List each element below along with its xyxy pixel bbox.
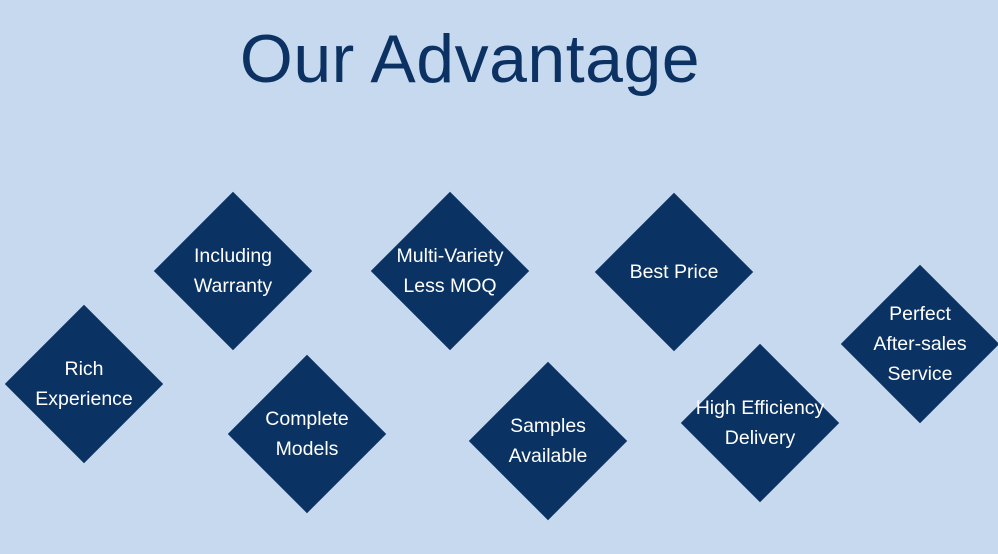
diamond-label-line: Best Price [630,257,719,287]
diamond-label: PerfectAfter-salesService [873,299,966,389]
advantage-diamond-group: RichExperienceIncludingWarrantyCompleteM… [0,0,998,554]
diamond-label-line: Less MOQ [397,271,504,301]
diamond-label-line: Samples [509,411,588,441]
advantage-diamond-complete-models[interactable]: CompleteModels [251,378,363,490]
diamond-label-line: Perfect [873,299,966,329]
slide-canvas: Our Advantage RichExperienceIncludingWar… [0,0,998,554]
advantage-diamond-rich-experience[interactable]: RichExperience [28,328,140,440]
diamond-label-line: Experience [35,384,133,414]
diamond-label: IncludingWarranty [194,241,272,301]
diamond-label-line: Including [194,241,272,271]
advantage-diamond-samples-available[interactable]: SamplesAvailable [492,385,604,497]
diamond-label-line: Available [509,441,588,471]
diamond-label: Best Price [630,257,719,287]
diamond-label: SamplesAvailable [509,411,588,471]
advantage-diamond-multi-variety-less-moq[interactable]: Multi-VarietyLess MOQ [394,215,506,327]
diamond-label-line: High Efficiency [696,393,825,423]
diamond-label-line: Delivery [696,423,825,453]
diamond-label: CompleteModels [265,404,348,464]
advantage-diamond-including-warranty[interactable]: IncludingWarranty [177,215,289,327]
diamond-label-line: Multi-Variety [397,241,504,271]
advantage-diamond-perfect-after-sales-service[interactable]: PerfectAfter-salesService [864,288,976,400]
advantage-diamond-best-price[interactable]: Best Price [618,216,730,328]
diamond-label-line: Rich [35,354,133,384]
advantage-diamond-high-efficiency-delivery[interactable]: High EfficiencyDelivery [704,367,816,479]
diamond-label-line: After-sales [873,329,966,359]
diamond-label: RichExperience [35,354,133,414]
diamond-label-line: Service [873,359,966,389]
diamond-label-line: Complete [265,404,348,434]
diamond-label-line: Models [265,434,348,464]
diamond-label: High EfficiencyDelivery [696,393,825,453]
diamond-label-line: Warranty [194,271,272,301]
diamond-label: Multi-VarietyLess MOQ [397,241,504,301]
